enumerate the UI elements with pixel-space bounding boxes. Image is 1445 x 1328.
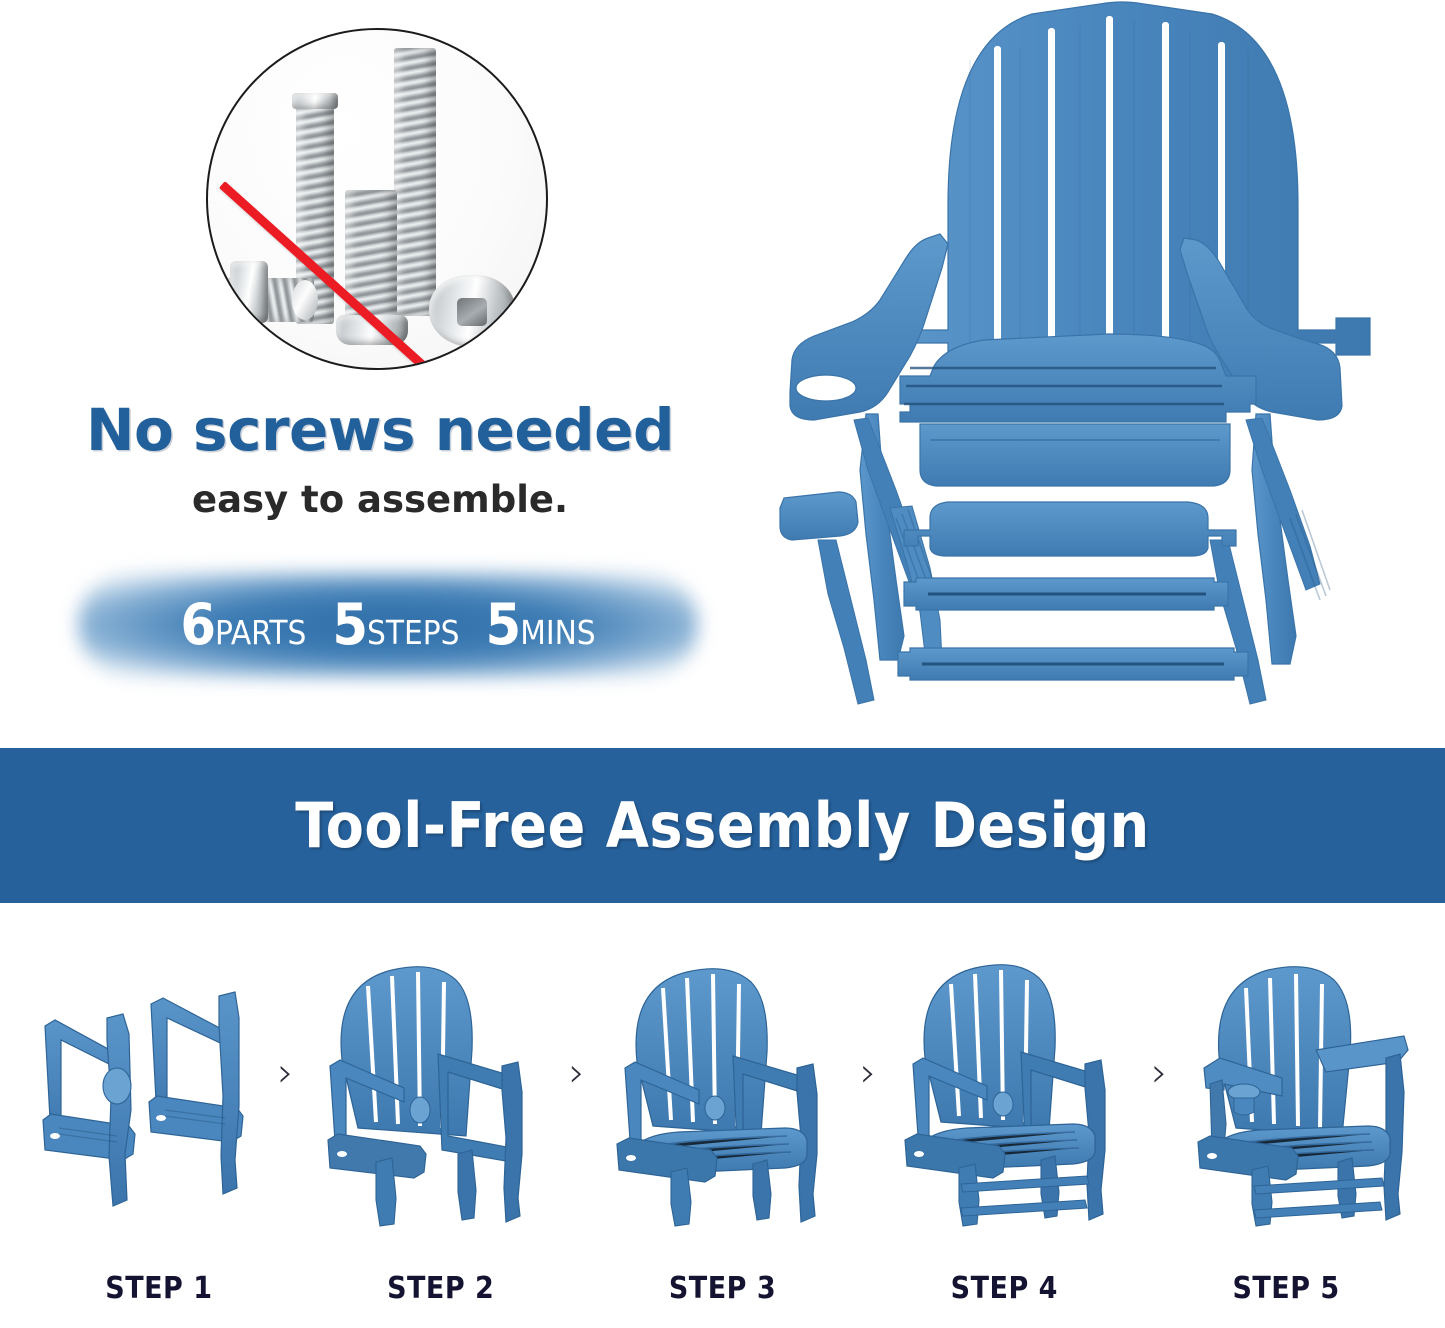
part-lower-rail — [898, 648, 1248, 680]
step-illustration-2 — [316, 958, 546, 1228]
bolt-lying-head — [230, 261, 268, 323]
step-illustration-3 — [607, 958, 837, 1228]
hex-socket-recess-icon — [457, 298, 487, 326]
chair-back — [636, 969, 767, 1134]
stat-mins-number: 5 — [486, 597, 521, 654]
stats-badge: 6 PARTS 5 STEPS 5 MINS — [78, 565, 698, 685]
assembly-steps-section: › — [0, 903, 1445, 1328]
step-label-4: STEP 4 — [872, 1271, 1136, 1306]
step-separator-icon-3: › — [851, 958, 885, 1228]
bolt-lying-tip — [292, 280, 318, 320]
part-chair-back-panel — [876, 2, 1370, 390]
stat-steps: 5 STEPS — [332, 597, 459, 654]
step-label-3: STEP 3 — [590, 1271, 854, 1306]
stat-parts: 6 PARTS — [180, 597, 306, 654]
cross-rail-upper — [961, 1176, 1089, 1192]
step-labels-row: STEP 1 STEP 2 STEP 3 STEP 4 STEP 5 — [0, 1271, 1445, 1306]
step-label-2: STEP 2 — [309, 1271, 573, 1306]
step-illustration-1 — [25, 958, 255, 1228]
cross-rail-lower — [961, 1200, 1087, 1216]
part-upper-rail — [904, 578, 1228, 610]
step-separator-icon-2: › — [560, 958, 594, 1228]
exploded-chair-parts-diagram — [770, 0, 1445, 740]
headline: No screws needed — [0, 396, 760, 464]
step-illustration-4 — [899, 958, 1129, 1228]
side-frame-left — [43, 1014, 135, 1206]
chair-back — [924, 965, 1055, 1130]
chair-back — [341, 967, 472, 1136]
side-frame-right — [149, 992, 243, 1194]
bolt-tall-right — [394, 48, 436, 316]
step-label-1: STEP 1 — [27, 1271, 291, 1306]
stat-mins-unit: MINS — [520, 616, 595, 649]
step-illustration-5 — [1190, 958, 1420, 1228]
subheadline: easy to assemble. — [0, 478, 760, 521]
stat-mins: 5 MINS — [486, 597, 596, 654]
stat-parts-number: 6 — [180, 597, 215, 654]
assembly-steps-row: › — [0, 958, 1445, 1228]
hero-section: No screws needed easy to assemble. 6 PAR… — [0, 0, 1445, 748]
stat-steps-unit: STEPS — [367, 616, 460, 649]
stat-steps-number: 5 — [332, 597, 367, 654]
step-separator-icon-4: › — [1142, 958, 1176, 1228]
screws-photo-circle — [206, 28, 548, 370]
stat-parts-unit: PARTS — [215, 616, 306, 649]
part-seat-panel — [900, 334, 1256, 486]
step-separator-icon-1: › — [268, 958, 302, 1228]
section-banner: Tool-Free Assembly Design — [0, 748, 1445, 903]
stats-badge-content: 6 PARTS 5 STEPS 5 MINS — [78, 565, 698, 685]
banner-title: Tool-Free Assembly Design — [295, 789, 1149, 862]
step-label-5: STEP 5 — [1154, 1271, 1418, 1306]
bolt-tall-left-head — [292, 93, 338, 109]
part-cross-support-bar — [904, 502, 1236, 556]
